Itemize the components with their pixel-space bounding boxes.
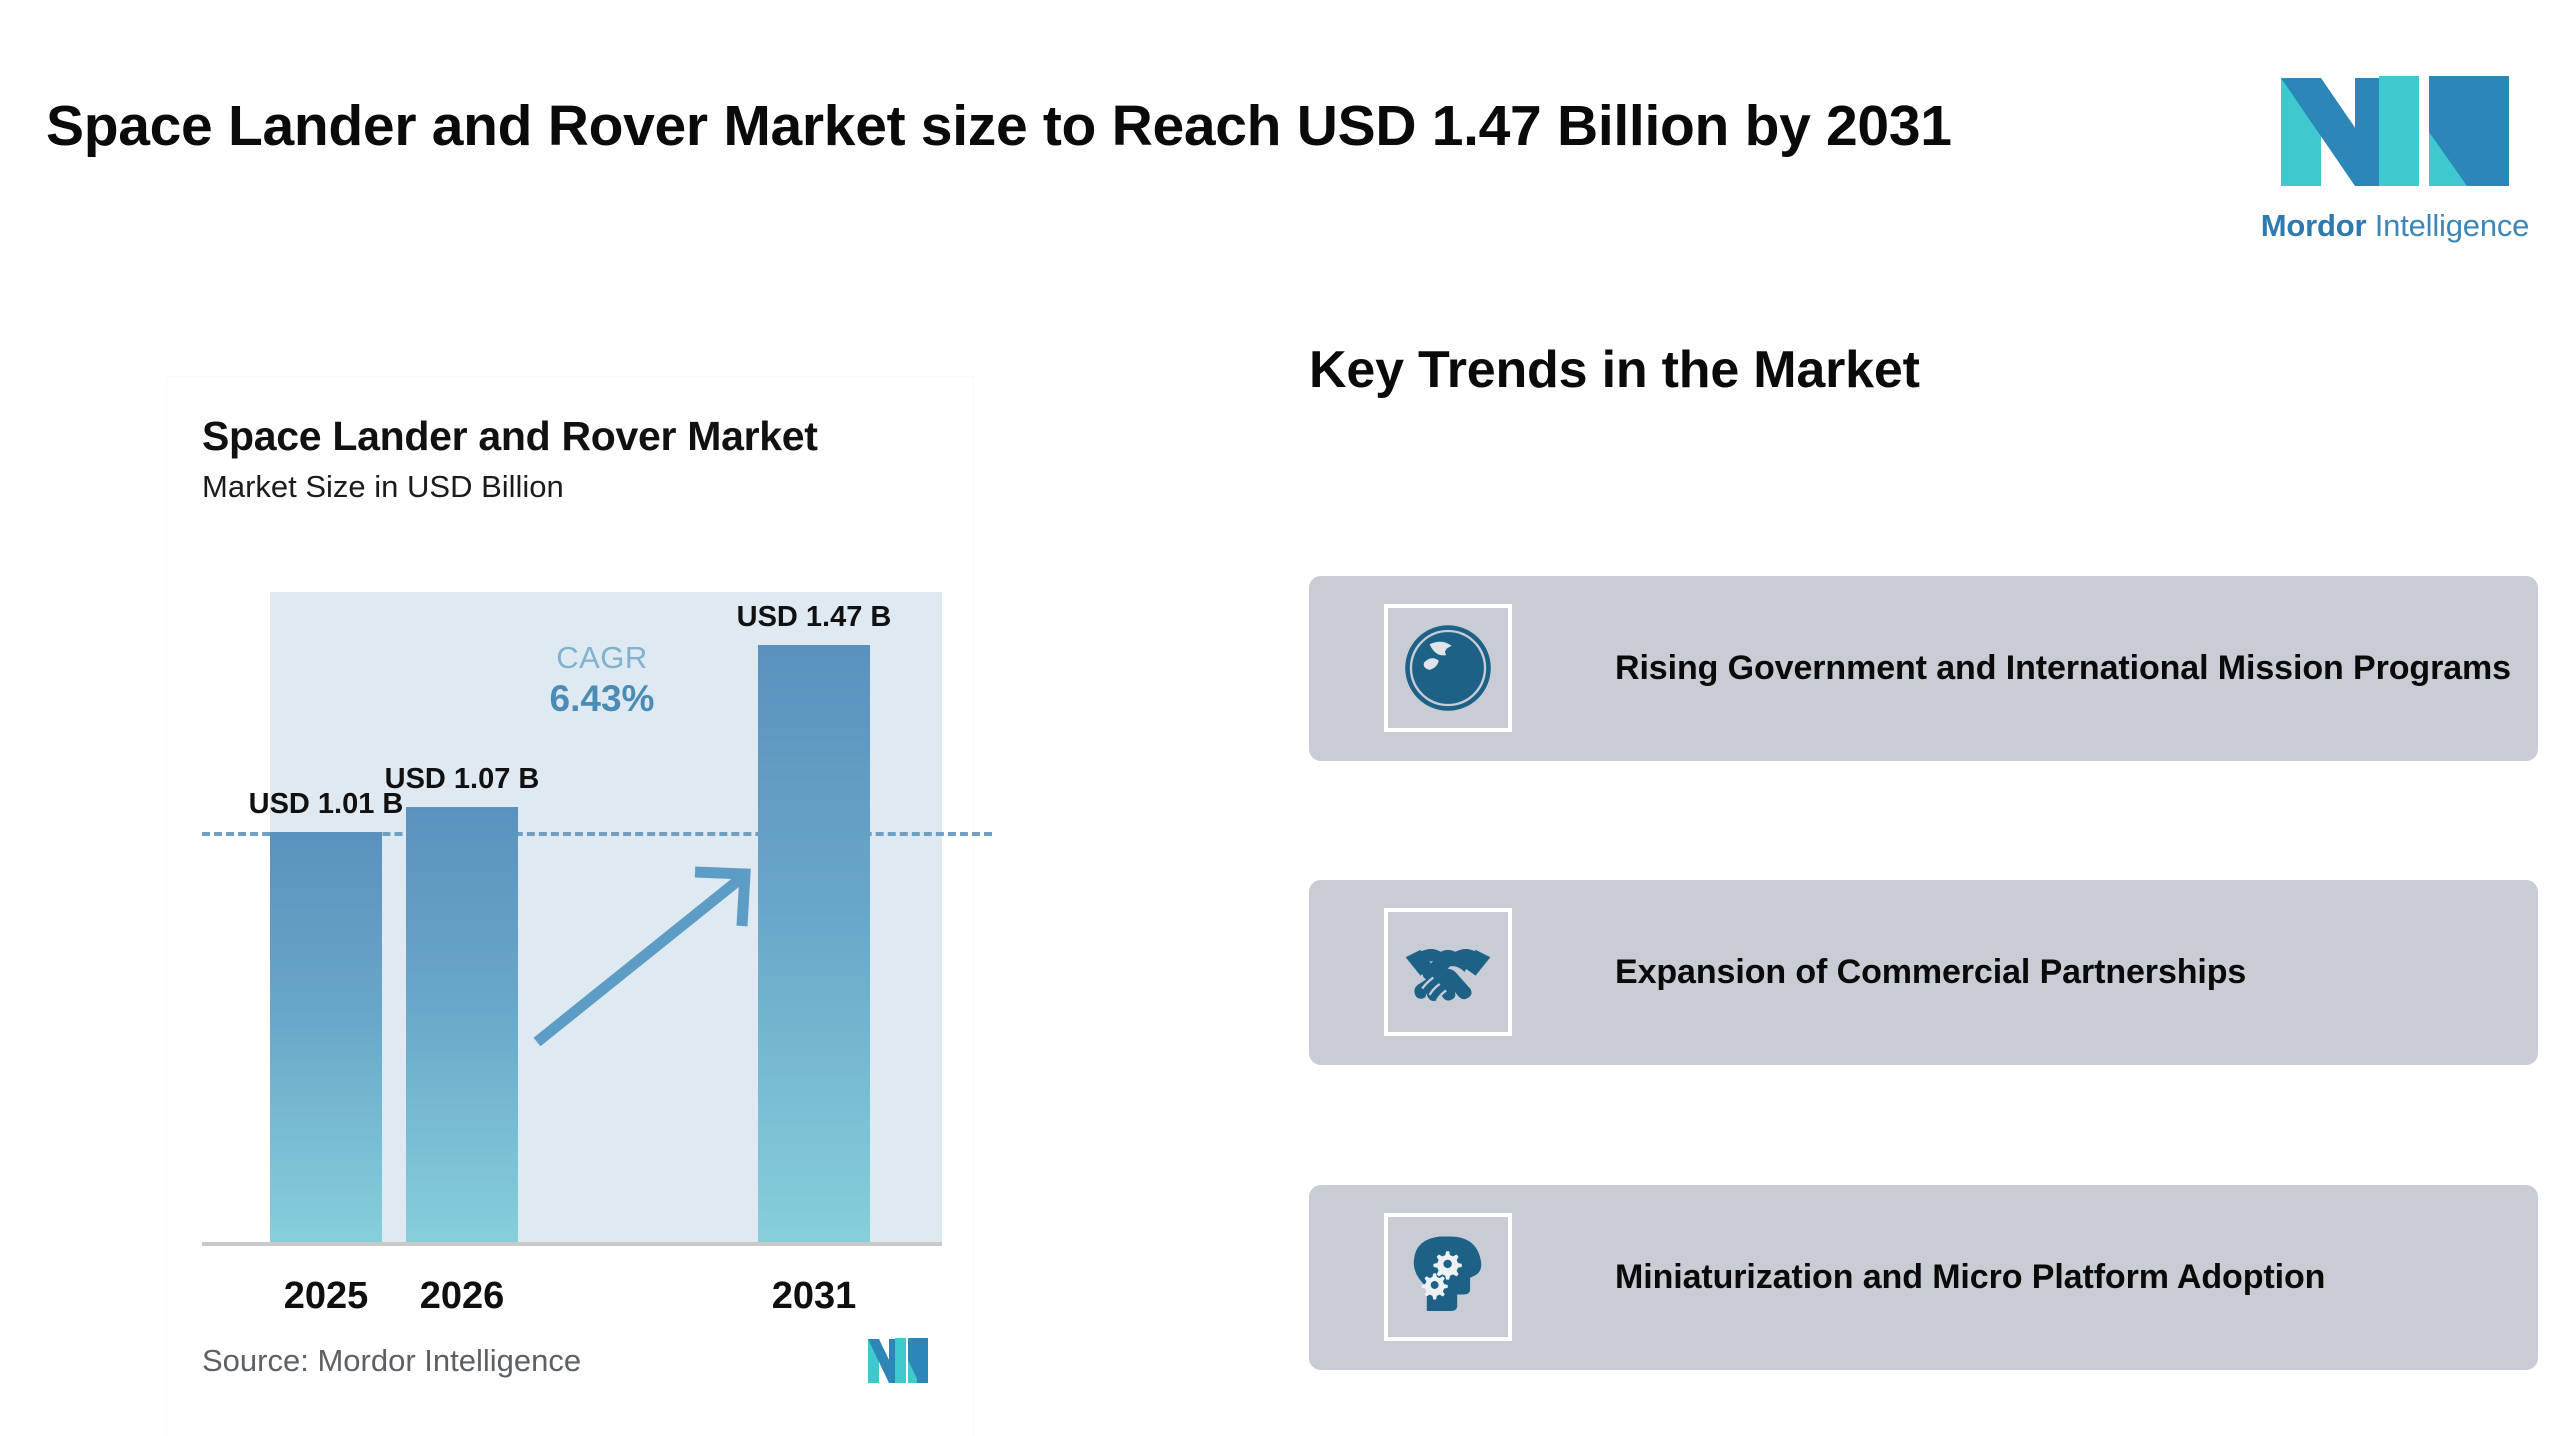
key-trend-card-1[interactable]: Rising Government and International Miss… <box>1309 576 2538 761</box>
brand-logo-wordmark: Mordor Intelligence <box>2261 208 2529 244</box>
bar-2026 <box>406 807 518 1242</box>
chart-title: Space Lander and Rover Market <box>202 413 818 460</box>
key-trend-label-3: Miniaturization and Micro Platform Adopt… <box>1615 1258 2325 1297</box>
chart-source-text: Source: Mordor Intelligence <box>202 1343 581 1379</box>
page-title: Space Lander and Rover Market size to Re… <box>46 90 2106 163</box>
infographic-root: Space Lander and Rover Market size to Re… <box>0 0 2560 1436</box>
mordor-m-mark-icon <box>867 1335 929 1387</box>
x-tick-2031: 2031 <box>694 1275 934 1318</box>
bar-2025 <box>270 832 382 1242</box>
cagr-label: CAGR <box>502 640 702 677</box>
brand-logo: Mordor Intelligence <box>2230 0 2560 312</box>
globe-icon <box>1384 604 1512 732</box>
mordor-m-logo-icon <box>2279 68 2511 196</box>
chart-subtitle: Market Size in USD Billion <box>202 469 564 505</box>
bar-value-label-2026: USD 1.07 B <box>342 763 582 796</box>
x-axis-line <box>202 1242 942 1246</box>
bar-2031 <box>758 645 870 1242</box>
x-tick-2026: 2026 <box>342 1275 582 1318</box>
key-trends-heading: Key Trends in the Market <box>1309 340 1920 400</box>
cagr-annotation: CAGR 6.43% <box>502 640 702 720</box>
bar-value-label-2031: USD 1.47 B <box>694 601 934 634</box>
brand-logo-intelligence: Intelligence <box>2375 208 2529 243</box>
cagr-value: 6.43% <box>502 677 702 721</box>
key-trend-label-2: Expansion of Commercial Partnerships <box>1615 953 2246 992</box>
head-gears-icon <box>1384 1213 1512 1341</box>
chart-plot-area: USD 1.01 B USD 1.07 B USD 1.47 B CAGR 6.… <box>202 592 942 1242</box>
key-trend-card-2[interactable]: Expansion of Commercial Partnerships <box>1309 880 2538 1065</box>
key-trend-label-1: Rising Government and International Miss… <box>1615 649 2511 688</box>
chart-card: Space Lander and Rover Market Market Siz… <box>167 377 973 1436</box>
key-trend-card-3[interactable]: Miniaturization and Micro Platform Adopt… <box>1309 1185 2538 1370</box>
handshake-icon <box>1384 908 1512 1036</box>
brand-logo-mordor: Mordor <box>2261 208 2367 243</box>
